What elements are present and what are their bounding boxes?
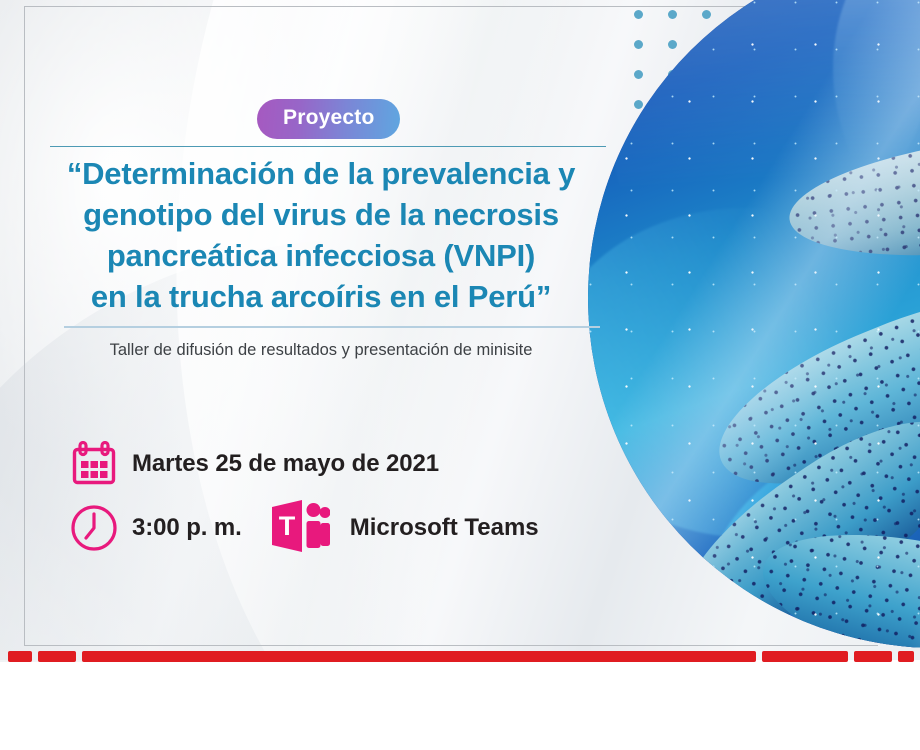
red-divider-bar <box>0 651 920 662</box>
title-line: pancreática infecciosa (VNPI) <box>26 236 616 277</box>
footer: PERÚ Ministerio de la Producción SANIPES <box>0 662 920 750</box>
svg-text:T: T <box>278 511 295 541</box>
platform-label: Microsoft Teams <box>350 514 539 542</box>
microsoft-teams-icon: T <box>268 497 330 560</box>
event-date-row: Martes 25 de mayo de 2021 <box>70 432 539 496</box>
trout-photo-circle <box>588 0 920 648</box>
poster: Proyecto “Determinación de la prevalenci… <box>0 0 920 750</box>
title-line: genotipo del virus de la necrosis <box>26 195 616 236</box>
title-line: en la trucha arcoíris en el Perú” <box>26 277 616 318</box>
title-line: “Determinación de la prevalencia y <box>26 154 616 195</box>
event-time-row: 3:00 p. m. T Microsoft Teams <box>70 496 539 560</box>
calendar-icon <box>70 441 132 487</box>
page-title: “Determinación de la prevalencia y genot… <box>26 154 616 318</box>
project-badge: Proyecto <box>257 99 400 139</box>
page-subtitle: Taller de difusión de resultados y prese… <box>26 341 616 360</box>
clock-icon <box>70 504 132 552</box>
divider-rule-top <box>50 146 606 147</box>
event-time: 3:00 p. m. <box>132 514 242 542</box>
event-info: Martes 25 de mayo de 2021 3:00 p. m. T <box>70 432 539 560</box>
event-date: Martes 25 de mayo de 2021 <box>132 450 439 478</box>
divider-rule-bottom <box>64 326 600 328</box>
teams-platform: T Microsoft Teams <box>268 497 539 560</box>
